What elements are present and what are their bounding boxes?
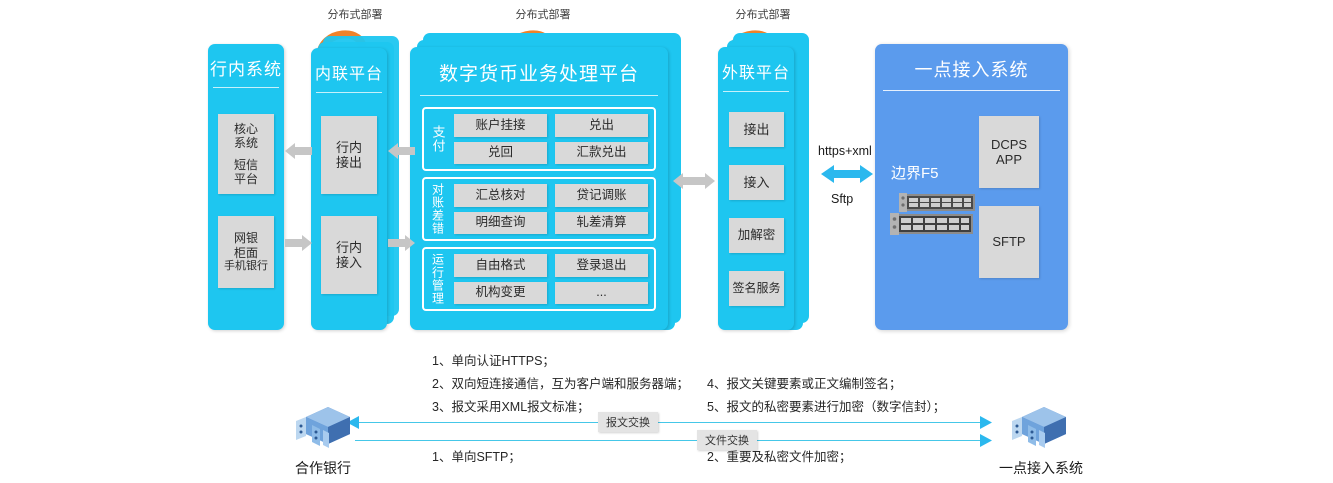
group-reconciliation: 对账差错 汇总核对 贷记调账 明细查询 轧差清算 [422,177,656,241]
f5-boundary-label: 边界F5 [891,162,939,183]
chip-dcep-item[interactable]: 汇款兑出 [555,142,648,165]
note-file-1: 1、单向SFTP； [432,447,521,468]
chip-core-system[interactable]: 核心 系统 短信 平台 [218,114,274,194]
group-label-text: 对账差错 [430,183,447,235]
panel-internal-system-title: 行内系统 [208,44,284,80]
chip-intranet-inbound[interactable]: 行内 接入 [321,216,377,294]
access-system-server-icon [1008,403,1070,449]
file-exchange-arrowhead-right [980,434,992,447]
chip-dcep-item[interactable]: 汇总核对 [454,184,547,207]
chip-line: 系统 [234,136,258,150]
chip-line: 核心 [234,122,258,136]
chip-dcep-item[interactable]: 兑出 [555,114,648,137]
chip-signature-service[interactable]: 签名服务 [729,271,784,306]
partner-bank-server-icon [292,403,354,449]
note-msg-3: 3、报文采用XML报文标准； [432,397,590,418]
group-payment-label: 支付 [424,109,452,169]
group-label-text: 运行管理 [430,253,447,305]
arrow-core-to-intranet-out [285,143,312,159]
chip-sftp[interactable]: SFTP [979,206,1039,278]
chip-external-inbound[interactable]: 接入 [729,165,784,200]
chip-line: DCPS [991,137,1027,152]
note-msg-2: 2、双向短连接通信，互为客户端和服务器端； [432,374,689,395]
group-operations: 运行管理 自由格式 登录退出 机构变更 ... [422,247,656,311]
access-system-bottom-label: 一点接入系统 [988,458,1094,478]
group-label-text: 支付 [429,125,448,153]
message-exchange-line [355,422,985,423]
f5-appliance-icon [887,192,979,238]
chip-ebank-counter-mobile[interactable]: 网银 柜面 手机银行 [218,216,274,288]
chip-external-outbound[interactable]: 接出 [729,112,784,147]
chip-line: 接出 [336,155,362,170]
chip-intranet-outbound[interactable]: 行内 接出 [321,116,377,194]
chip-line: 行内 [336,240,362,255]
chip-line: 柜面 [234,246,258,260]
chip-line: 网银 [234,231,258,245]
chip-line: 行内 [336,140,362,155]
chip-dcps-app[interactable]: DCPS APP [979,116,1039,188]
arrow-intranet-out-to-dcep [388,143,415,159]
group-operations-label: 运行管理 [424,249,452,309]
panel-internal-system[interactable]: 行内系统 核心 系统 短信 平台 网银 柜面 手机银行 [208,44,284,330]
partner-bank-label: 合作银行 [282,458,364,478]
chip-line: APP [996,152,1022,167]
chip-line: 手机银行 [224,260,268,273]
chip-dcep-item[interactable]: 轧差清算 [555,212,648,235]
chip-dcep-item[interactable]: 机构变更 [454,282,547,305]
message-exchange-label: 报文交换 [598,412,658,432]
panel-intranet-platform-title: 内联平台 [311,48,387,84]
chip-dcep-item[interactable]: 贷记调账 [555,184,648,207]
chip-dcep-item[interactable]: 明细查询 [454,212,547,235]
panel-intranet-platform[interactable]: 内联平台 行内 接出 行内 接入 [311,48,387,330]
file-exchange-line [355,440,985,441]
panel-external-platform-title: 外联平台 [718,47,794,83]
note-msg-1: 1、单向认证HTTPS； [432,351,555,372]
chip-dcep-item[interactable]: 登录退出 [555,254,648,277]
message-exchange-arrowhead-right [980,416,992,429]
chip-encrypt-decrypt[interactable]: 加解密 [729,218,784,253]
link-protocol-sftp-label: Sftp [831,192,853,206]
arrow-ebank-to-intranet-in [285,235,312,251]
arrow-external-to-access-bidirectional [821,164,873,184]
chip-dcep-item[interactable]: ... [555,282,648,305]
chip-dcep-item[interactable]: 兑回 [454,142,547,165]
chip-line: 平台 [234,172,258,186]
chip-dcep-item[interactable]: 自由格式 [454,254,547,277]
note-file-2: 2、重要及私密文件加密； [707,447,851,468]
note-msg-5: 5、报文的私密要素进行加密（数字信封）； [707,397,945,418]
chip-line: 接入 [336,255,362,270]
group-reconciliation-label: 对账差错 [424,179,452,239]
arrow-intranet-in-to-dcep [388,235,415,251]
panel-dcep-platform-title: 数字货币业务处理平台 [410,47,668,86]
panel-access-system-title: 一点接入系统 [875,44,1068,82]
panel-dcep-platform[interactable]: 数字货币业务处理平台 支付 账户挂接 兑出 兑回 汇款兑出 对账差错 汇总核对 … [410,47,668,330]
link-protocol-https-label: https+xml [818,144,872,158]
panel-external-platform[interactable]: 外联平台 接出 接入 加解密 签名服务 [718,47,794,330]
note-msg-4: 4、报文关键要素或正文编制签名； [707,374,901,395]
group-payment: 支付 账户挂接 兑出 兑回 汇款兑出 [422,107,656,171]
arrow-dcep-external-bidirectional [673,173,715,189]
chip-line: 短信 [234,158,258,172]
panel-access-system[interactable]: 一点接入系统 边界F5 [875,44,1068,330]
chip-dcep-item[interactable]: 账户挂接 [454,114,547,137]
